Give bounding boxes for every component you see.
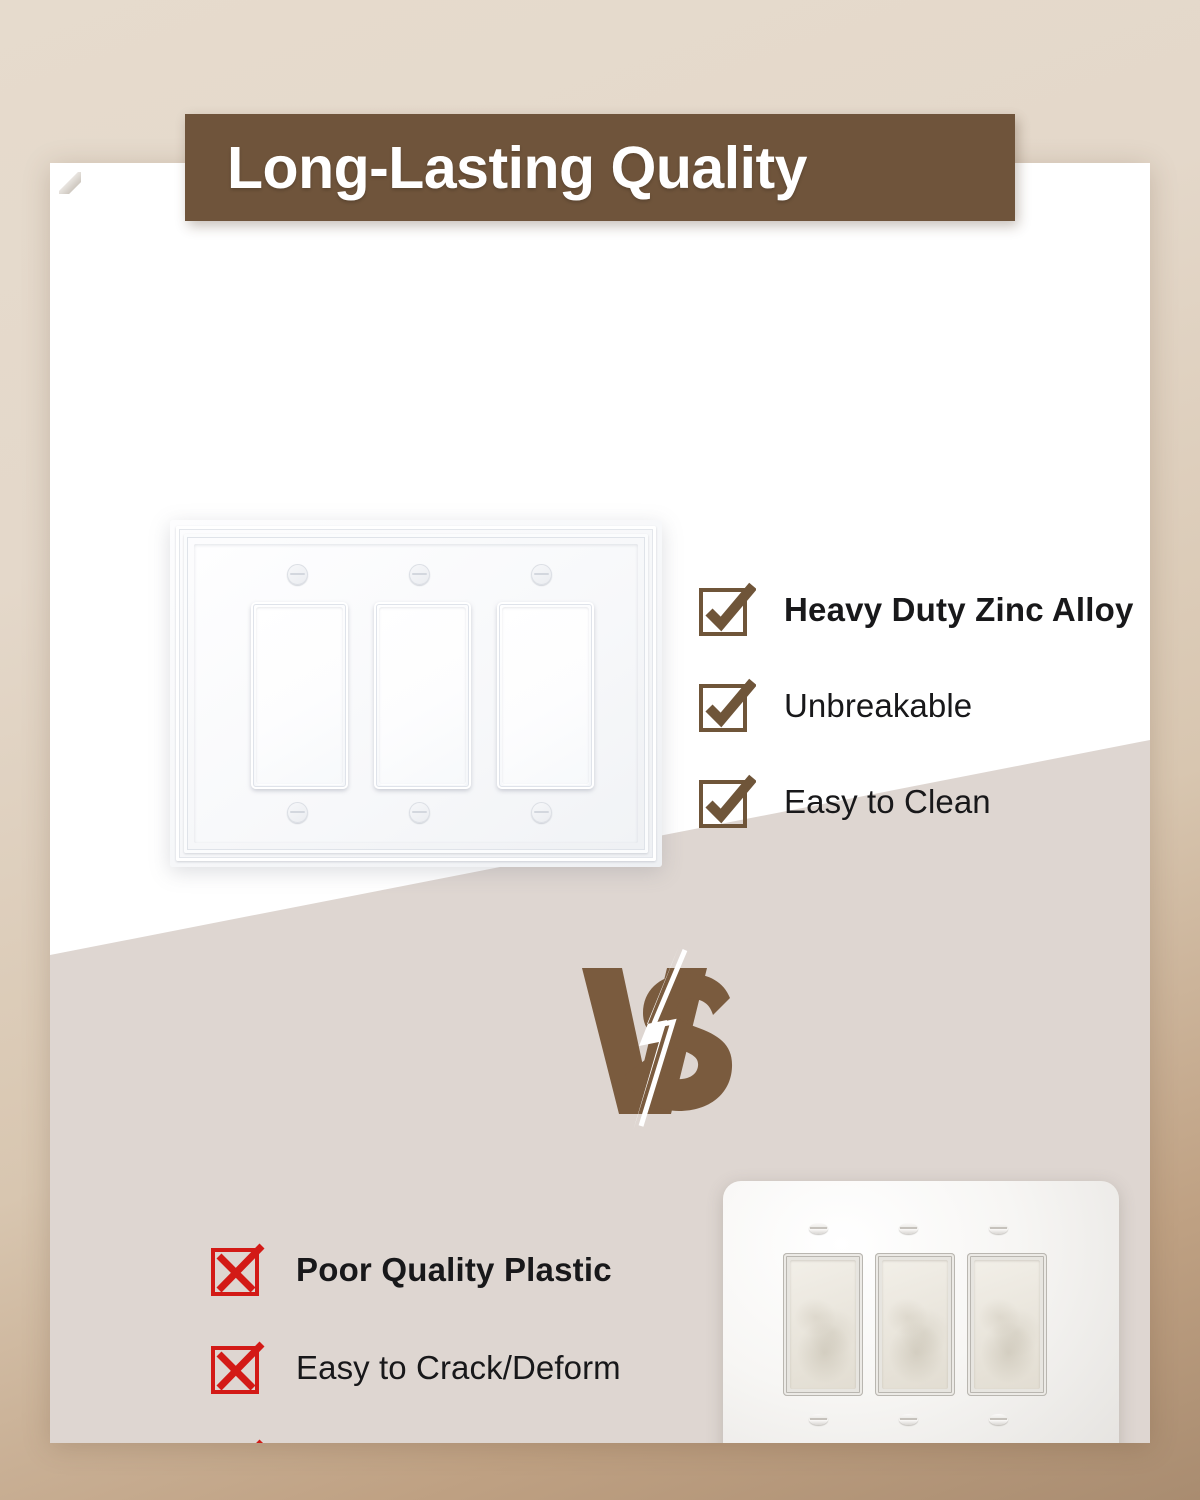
screw-icon — [989, 1223, 1008, 1234]
feature-label: Easy to Clean — [784, 783, 991, 821]
x-mark-icon — [210, 1437, 268, 1443]
page-title: Long-Lasting Quality — [227, 134, 807, 202]
premium-feature-list: Heavy Duty Zinc Alloy Unbreakable — [698, 581, 1134, 831]
x-mark-icon — [210, 1241, 268, 1299]
check-icon — [698, 773, 756, 831]
corner-fold-decoration — [59, 172, 81, 194]
rocker-switch — [875, 1253, 955, 1396]
feature-item: Easy to Crack/Deform — [210, 1339, 621, 1397]
screw-icon — [809, 1414, 828, 1425]
title-banner: Long-Lasting Quality — [185, 114, 1015, 221]
check-icon — [698, 581, 756, 639]
poor-quality-feature-list: Poor Quality Plastic Easy to Crack/Defor… — [210, 1241, 621, 1443]
rocker-switch — [251, 602, 348, 789]
screw-icon — [409, 802, 430, 823]
rocker-switch — [374, 602, 471, 789]
premium-wall-plate-image — [170, 520, 662, 867]
screw-icon — [531, 802, 552, 823]
feature-item: Poor Quality Plastic — [210, 1241, 621, 1299]
feature-label: Poor Quality Plastic — [296, 1251, 612, 1289]
check-icon — [698, 677, 756, 735]
feature-label: Easy to Crack/Deform — [296, 1349, 621, 1387]
rocker-switch — [497, 602, 594, 789]
rocker-switch — [967, 1253, 1047, 1396]
plate-face — [194, 544, 638, 843]
infographic-canvas: Heavy Duty Zinc Alloy Unbreakable — [0, 0, 1200, 1500]
screw-icon — [409, 564, 430, 585]
feature-label: Unbreakable — [784, 687, 972, 725]
feature-item: Heavy Duty Zinc Alloy — [698, 581, 1134, 639]
screw-icon — [287, 802, 308, 823]
feature-label: Heavy Duty Zinc Alloy — [784, 591, 1134, 629]
screw-icon — [531, 564, 552, 585]
rocker-switch — [783, 1253, 863, 1396]
feature-item: Easy to Clean — [698, 773, 1134, 831]
content-card: Heavy Duty Zinc Alloy Unbreakable — [50, 163, 1150, 1443]
x-mark-icon — [210, 1339, 268, 1397]
poor-quality-wall-plate-image — [723, 1181, 1119, 1443]
feature-item: Unbreakable — [698, 677, 1134, 735]
vs-divider-logo — [555, 946, 755, 1131]
screw-icon — [287, 564, 308, 585]
screw-icon — [989, 1414, 1008, 1425]
feature-item: Easy to Get Dirty — [210, 1437, 621, 1443]
screw-icon — [809, 1223, 828, 1234]
screw-icon — [899, 1414, 918, 1425]
screw-icon — [899, 1223, 918, 1234]
